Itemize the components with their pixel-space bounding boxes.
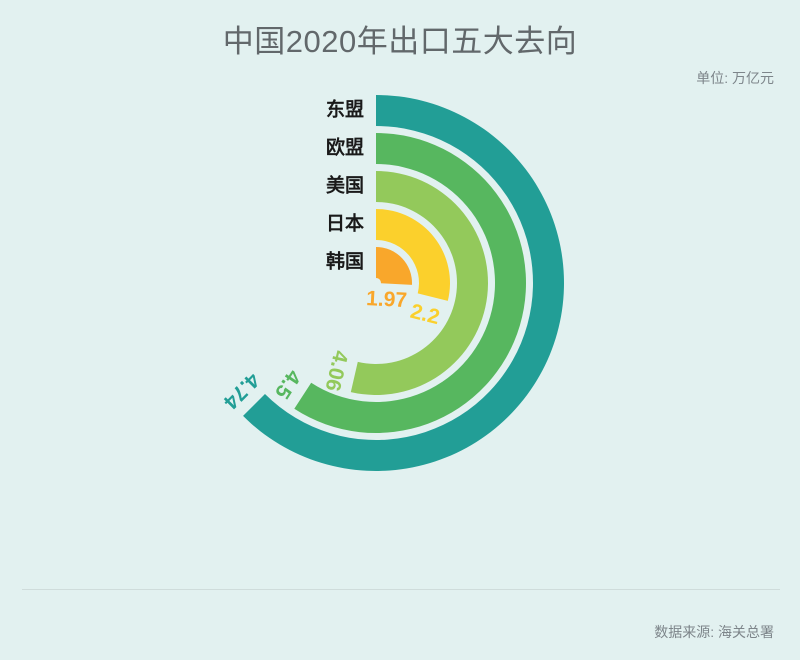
- chart-page: 中国2020年出口五大去向 单位: 万亿元 东盟欧盟美国日本韩国 4.744.5…: [0, 0, 800, 660]
- category-label-layer: 东盟欧盟美国日本韩国: [326, 98, 364, 273]
- arc-layer: [243, 95, 564, 471]
- category-label-4: 日本: [326, 212, 364, 235]
- value-label-5: 1.97: [366, 287, 408, 312]
- value-label-2: 4.5: [270, 366, 305, 403]
- category-label-1: 东盟: [326, 98, 364, 121]
- value-label-3: 4.06: [321, 348, 353, 393]
- category-label-2: 欧盟: [326, 136, 364, 159]
- category-label-5: 韩国: [326, 250, 364, 273]
- footer-divider: [22, 589, 780, 590]
- category-label-3: 美国: [326, 174, 364, 197]
- value-label-4: 2.2: [408, 300, 442, 329]
- source-label: 数据来源: 海关总署: [654, 622, 774, 642]
- radial-bar-chart: 东盟欧盟美国日本韩国 4.744.54.062.21.97: [0, 0, 800, 660]
